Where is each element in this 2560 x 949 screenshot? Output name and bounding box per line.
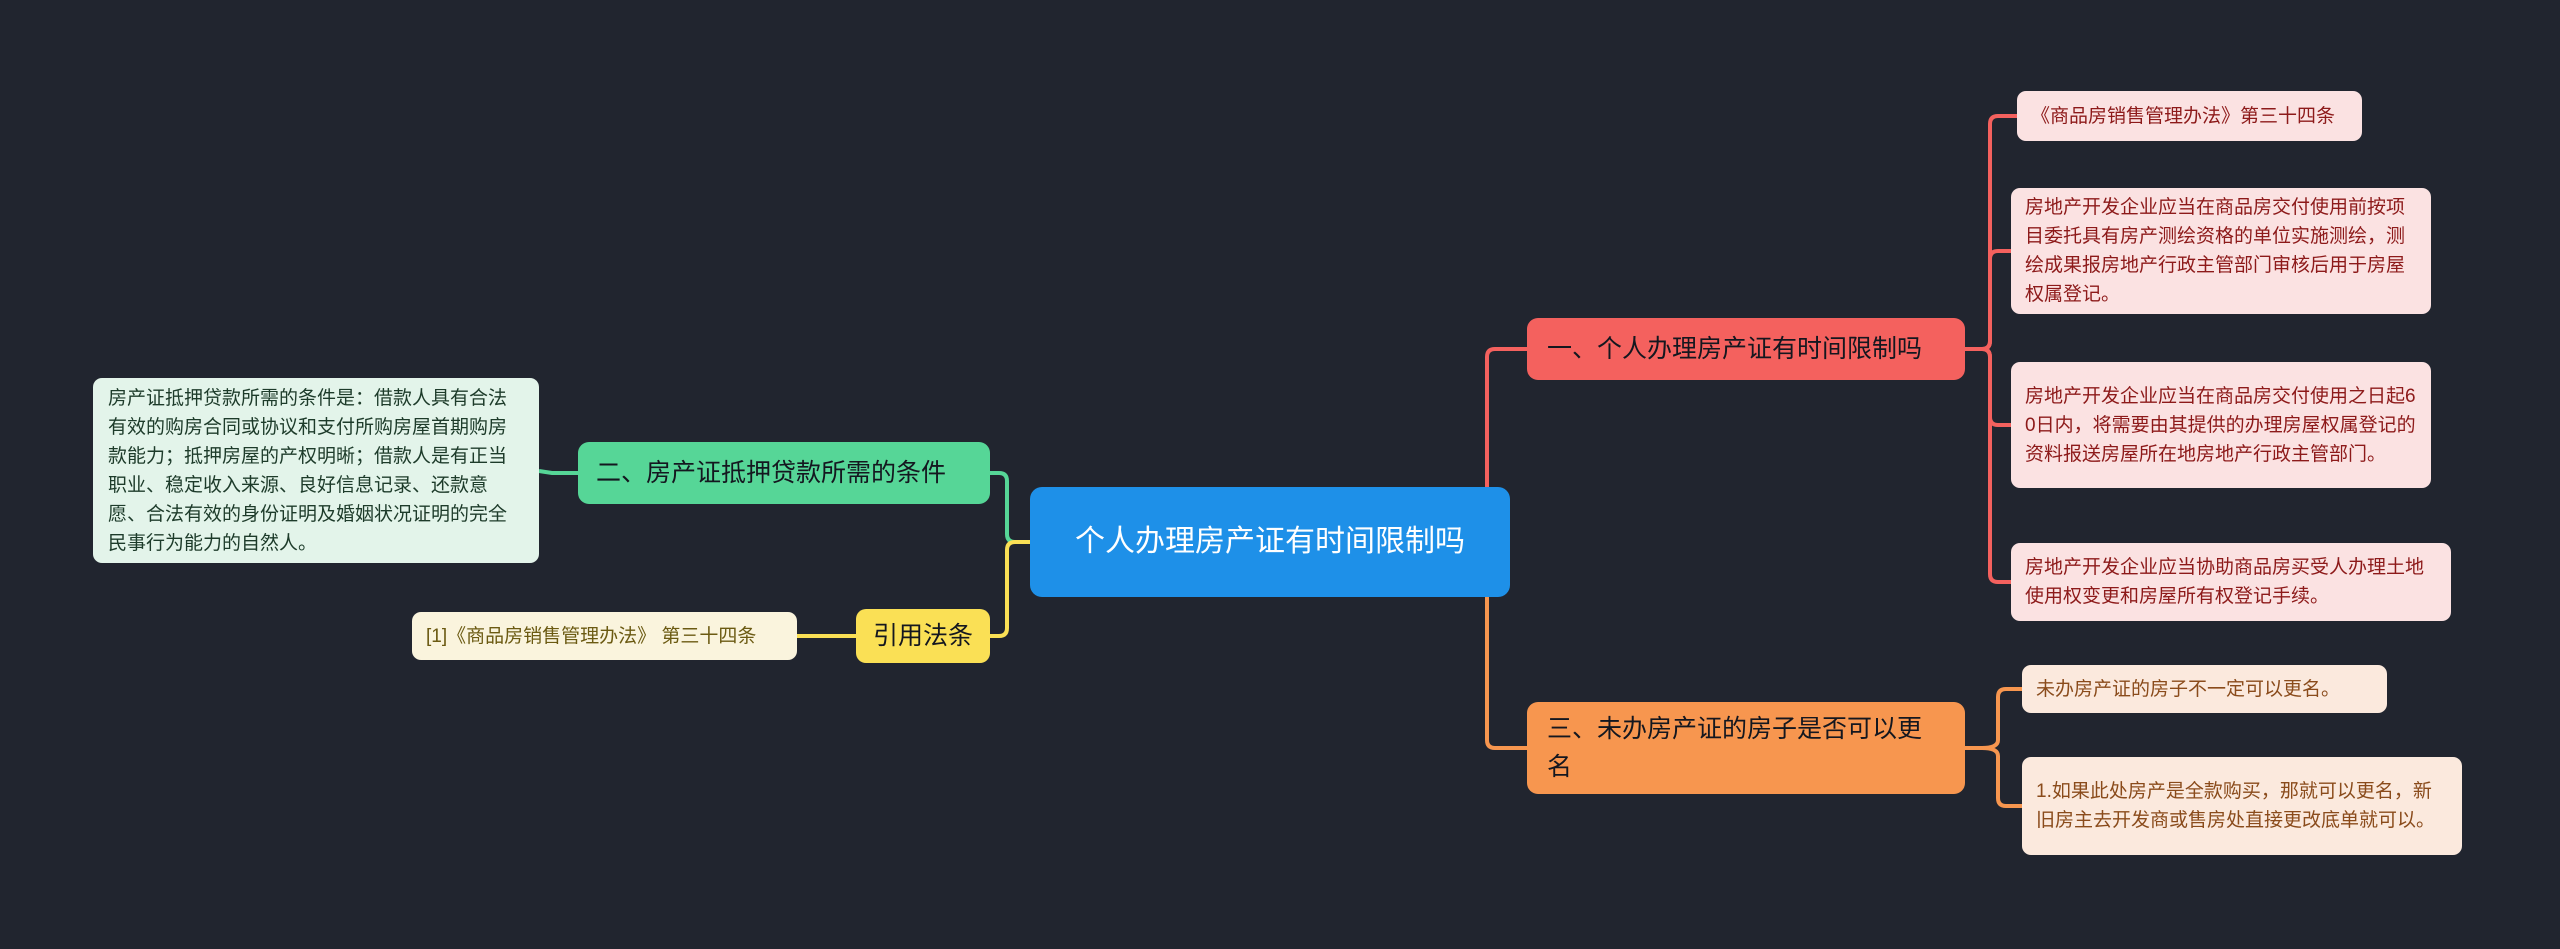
link-orange-to-leaf-1	[1965, 689, 2022, 748]
branch-node-green-label: 二、房产证抵押贷款所需的条件	[578, 456, 990, 490]
leaf-node-red-4-label: 房地产开发企业应当协助商品房买受人办理土地使用权变更和房屋所有权登记手续。	[2011, 553, 2451, 611]
link-orange-to-leaf-2	[1965, 748, 2022, 806]
leaf-node-yellow-1-label: [1]《商品房销售管理办法》 第三十四条	[412, 622, 797, 651]
link-red-to-leaf-2	[1965, 251, 2011, 349]
root-node-label: 个人办理房产证有时间限制吗	[1030, 520, 1510, 564]
branch-node-red-label: 一、个人办理房产证有时间限制吗	[1527, 332, 1965, 366]
link-root-to-green	[990, 473, 1030, 542]
mindmap-canvas: 个人办理房产证有时间限制吗 一、个人办理房产证有时间限制吗 《商品房销售管理办法…	[0, 0, 2560, 949]
root-node[interactable]: 个人办理房产证有时间限制吗	[1030, 487, 1510, 597]
leaf-node-green-1-label: 房产证抵押贷款所需的条件是：借款人具有合法有效的购房合同或协议和支付所购房屋首期…	[93, 384, 539, 558]
link-root-to-yellow	[990, 542, 1030, 636]
link-red-to-leaf-3	[1965, 349, 2011, 425]
leaf-node-red-4[interactable]: 房地产开发企业应当协助商品房买受人办理土地使用权变更和房屋所有权登记手续。	[2011, 543, 2451, 621]
leaf-node-red-3-label: 房地产开发企业应当在商品房交付使用之日起60日内，将需要由其提供的办理房屋权属登…	[2011, 382, 2431, 469]
leaf-node-red-2-label: 房地产开发企业应当在商品房交付使用前按项目委托具有房产测绘资格的单位实施测绘，测…	[2011, 193, 2431, 309]
leaf-node-red-2[interactable]: 房地产开发企业应当在商品房交付使用前按项目委托具有房产测绘资格的单位实施测绘，测…	[2011, 188, 2431, 314]
leaf-node-orange-1[interactable]: 未办房产证的房子不一定可以更名。	[2022, 665, 2387, 713]
leaf-node-orange-2[interactable]: 1.如果此处房产是全款购买，那就可以更名，新旧房主去开发商或售房处直接更改底单就…	[2022, 757, 2462, 855]
leaf-node-orange-1-label: 未办房产证的房子不一定可以更名。	[2022, 675, 2387, 704]
leaf-node-red-3[interactable]: 房地产开发企业应当在商品房交付使用之日起60日内，将需要由其提供的办理房屋权属登…	[2011, 362, 2431, 488]
leaf-node-yellow-1[interactable]: [1]《商品房销售管理办法》 第三十四条	[412, 612, 797, 660]
branch-node-orange[interactable]: 三、未办房产证的房子是否可以更名	[1527, 702, 1965, 794]
leaf-node-orange-2-label: 1.如果此处房产是全款购买，那就可以更名，新旧房主去开发商或售房处直接更改底单就…	[2022, 777, 2462, 835]
leaf-node-red-1-label: 《商品房销售管理办法》第三十四条	[2017, 102, 2362, 131]
branch-node-yellow[interactable]: 引用法条	[856, 609, 990, 663]
branch-node-yellow-label: 引用法条	[856, 619, 990, 653]
link-red-to-leaf-4	[1965, 349, 2011, 582]
branch-node-red[interactable]: 一、个人办理房产证有时间限制吗	[1527, 318, 1965, 380]
link-green-to-leaf-1	[539, 471, 578, 473]
branch-node-green[interactable]: 二、房产证抵押贷款所需的条件	[578, 442, 990, 504]
link-red-to-leaf-1	[1965, 116, 2017, 349]
leaf-node-red-1[interactable]: 《商品房销售管理办法》第三十四条	[2017, 91, 2362, 141]
leaf-node-green-1[interactable]: 房产证抵押贷款所需的条件是：借款人具有合法有效的购房合同或协议和支付所购房屋首期…	[93, 378, 539, 563]
branch-node-orange-label: 三、未办房产证的房子是否可以更名	[1527, 710, 1965, 786]
